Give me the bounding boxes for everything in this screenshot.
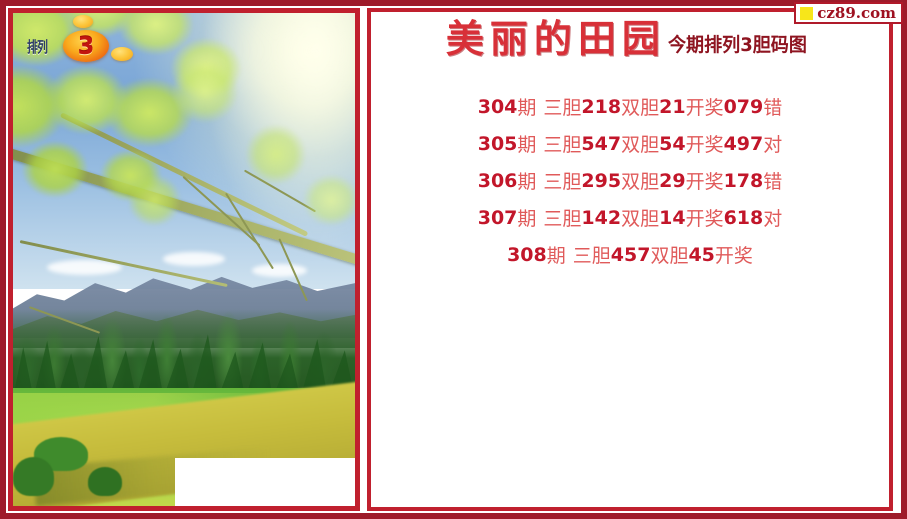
double: 21: [659, 96, 685, 118]
triple_label: 三胆: [543, 93, 581, 120]
image-panel: 排列 3: [8, 8, 360, 511]
triple: 547: [581, 133, 621, 155]
double_label: 双胆: [621, 204, 659, 231]
prediction-list: 304期三胆218双胆21开奖079错305期三胆547双胆54开奖497对30…: [371, 88, 889, 273]
page-title: 美丽的田园: [446, 20, 666, 58]
lottery-logo: 排列 3: [27, 25, 139, 67]
prediction-row: 304期三胆218双胆21开奖079错: [371, 88, 889, 125]
double_label: 双胆: [621, 130, 659, 157]
result: 错: [763, 93, 782, 120]
grass-tuft: [88, 467, 122, 497]
triple: 457: [611, 244, 651, 266]
page-subtitle: 今期排列3胆码图: [668, 36, 807, 58]
issue_suffix: 期: [517, 167, 536, 194]
double: 54: [659, 133, 685, 155]
double_label: 双胆: [650, 241, 688, 268]
draw: 178: [724, 170, 764, 192]
draw_label: 开奖: [715, 241, 753, 268]
decorative-egg-icon: [73, 15, 93, 28]
header-row: 美丽的田园 今期排列3胆码图: [371, 20, 889, 58]
triple_label: 三胆: [543, 130, 581, 157]
issue: 305: [478, 133, 518, 155]
page-root: 排列 3 美丽的田园 今期排列3胆码图 304期三胆218双胆21开奖079错3…: [0, 0, 907, 519]
lottery-ball-number: 3: [78, 34, 95, 58]
watermark-swatch-icon: [800, 7, 813, 20]
triple: 218: [581, 96, 621, 118]
triple: 142: [581, 207, 621, 229]
data-panel: 美丽的田园 今期排列3胆码图 304期三胆218双胆21开奖079错305期三胆…: [367, 8, 893, 511]
draw: 618: [724, 207, 764, 229]
prediction-row: 306期三胆295双胆29开奖178错: [371, 162, 889, 199]
issue_suffix: 期: [517, 93, 536, 120]
issue_suffix: 期: [517, 204, 536, 231]
result: 对: [763, 130, 782, 157]
prediction-row: 307期三胆142双胆14开奖618对: [371, 199, 889, 236]
draw_label: 开奖: [686, 93, 724, 120]
triple_label: 三胆: [543, 167, 581, 194]
white-overlay-block: [175, 458, 360, 511]
issue: 307: [478, 207, 518, 229]
logo-label: 排列: [27, 36, 47, 57]
landscape-scene: 排列 3: [13, 13, 355, 506]
double: 29: [659, 170, 685, 192]
site-watermark: cz89.com: [794, 2, 903, 24]
draw: 497: [724, 133, 764, 155]
issue_suffix: 期: [517, 130, 536, 157]
draw_label: 开奖: [686, 204, 724, 231]
issue: 306: [478, 170, 518, 192]
draw: 079: [724, 96, 764, 118]
double: 14: [659, 207, 685, 229]
triple: 295: [581, 170, 621, 192]
result: 对: [763, 204, 782, 231]
grass-tuft: [13, 457, 54, 496]
lottery-ball-icon: 3: [63, 30, 109, 62]
issue_suffix: 期: [547, 241, 566, 268]
foliage-canopy-secondary: [129, 23, 355, 309]
issue: 308: [507, 244, 547, 266]
watermark-text: cz89.com: [817, 6, 896, 21]
draw_label: 开奖: [686, 130, 724, 157]
decorative-egg-icon: [111, 47, 133, 61]
prediction-row: 308期三胆457双胆45开奖: [371, 236, 889, 273]
triple_label: 三胆: [543, 204, 581, 231]
double: 45: [688, 244, 714, 266]
double_label: 双胆: [621, 167, 659, 194]
issue: 304: [478, 96, 518, 118]
triple_label: 三胆: [573, 241, 611, 268]
prediction-row: 305期三胆547双胆54开奖497对: [371, 125, 889, 162]
draw_label: 开奖: [686, 167, 724, 194]
double_label: 双胆: [621, 93, 659, 120]
result: 错: [763, 167, 782, 194]
